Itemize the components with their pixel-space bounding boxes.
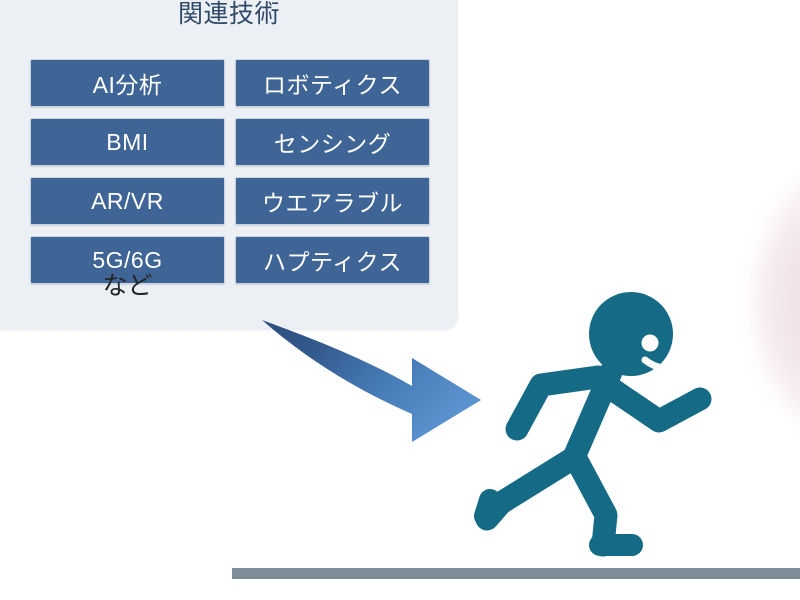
tech-card-sensing[interactable]: センシング xyxy=(235,118,430,166)
panel-footnote-etc: など xyxy=(30,274,225,299)
tech-card-haptics[interactable]: ハプティクス xyxy=(235,236,430,284)
running-person-icon xyxy=(487,372,700,545)
curved-arrow-icon xyxy=(262,320,481,442)
running-person-feet xyxy=(485,500,632,545)
tech-card-robotics[interactable]: ロボティクス xyxy=(235,59,430,107)
related-technologies-panel: 関連技術 AI分析 ロボティクス BMI センシング AR/VR ウエアラブル … xyxy=(0,0,458,330)
tech-card-bmi[interactable]: BMI xyxy=(30,118,225,166)
slide-canvas: 関連技術 AI分析 ロボティクス BMI センシング AR/VR ウエアラブル … xyxy=(0,0,800,600)
tech-card-ar-vr[interactable]: AR/VR xyxy=(30,177,225,225)
running-person-head xyxy=(589,292,674,376)
tech-card-wearable[interactable]: ウエアラブル xyxy=(235,177,430,225)
pink-blob-decoration xyxy=(744,158,800,444)
ground-line xyxy=(232,568,800,579)
technology-card-grid: AI分析 ロボティクス BMI センシング AR/VR ウエアラブル 5G/6G… xyxy=(30,59,430,284)
panel-title: 関連技術 xyxy=(0,2,458,27)
tech-card-ai-analysis[interactable]: AI分析 xyxy=(30,59,225,107)
